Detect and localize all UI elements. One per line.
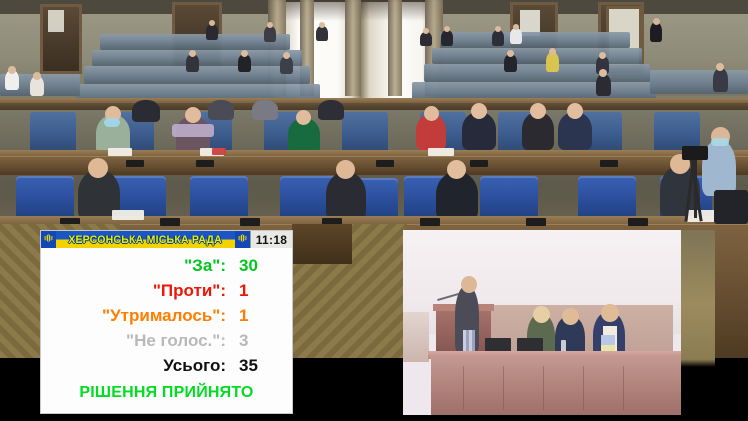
attendee-head bbox=[549, 48, 556, 55]
council-member-head bbox=[447, 160, 466, 179]
gallery-seat-row bbox=[650, 70, 748, 94]
attendee-head bbox=[319, 22, 325, 28]
attendee-head bbox=[8, 66, 16, 74]
vote-label-notvoted: "Не голос.": bbox=[41, 332, 226, 349]
attendee-head bbox=[599, 52, 606, 59]
presidium-desk-front bbox=[431, 356, 681, 415]
vote-count-for: 30 bbox=[226, 257, 307, 274]
attendee bbox=[420, 32, 432, 46]
microphone bbox=[600, 160, 618, 167]
attendee-head bbox=[444, 26, 450, 32]
gallery-seat-row bbox=[432, 48, 642, 64]
presidium-member-head bbox=[533, 306, 550, 323]
council-member-head bbox=[530, 103, 546, 119]
microphone bbox=[470, 160, 488, 167]
document-paper bbox=[428, 148, 454, 156]
vote-row-notvoted: "Не голос.": 3 bbox=[41, 332, 292, 349]
red-folder bbox=[212, 148, 226, 155]
attendee bbox=[650, 22, 662, 42]
attendee-head bbox=[423, 28, 429, 34]
vote-count-against: 1 bbox=[226, 282, 307, 299]
attendee-head bbox=[189, 50, 196, 57]
attendee bbox=[264, 26, 276, 42]
desk-panel-seam bbox=[463, 366, 464, 410]
vote-verdict: РІШЕННЯ ПРИЙНЯТО bbox=[41, 384, 292, 402]
scarf bbox=[172, 124, 214, 137]
attendee bbox=[316, 26, 328, 41]
inset-right-edge bbox=[681, 230, 715, 415]
face-mask bbox=[711, 138, 729, 146]
gallery-seat-row bbox=[440, 32, 630, 48]
desk-panel-seam bbox=[583, 366, 584, 410]
attendee-head bbox=[209, 20, 215, 26]
gallery-seat-row bbox=[100, 34, 290, 50]
ukraine-coat-of-arms-icon bbox=[41, 231, 56, 248]
vote-count-total: 35 bbox=[226, 357, 307, 374]
council-member-head bbox=[567, 103, 583, 119]
vote-count-notvoted: 3 bbox=[226, 332, 307, 349]
vote-results-panel: ХЕРСОНСЬКА МІСЬКА РАДА 11:18 "За": 30 "П… bbox=[40, 230, 293, 414]
tripod-leg bbox=[694, 160, 697, 218]
council-member bbox=[326, 172, 366, 220]
attendee-head bbox=[716, 63, 724, 71]
attendee-head bbox=[33, 72, 41, 80]
curtain bbox=[388, 0, 402, 96]
attendee-head bbox=[283, 52, 290, 59]
chamber-chair bbox=[342, 112, 388, 152]
vote-rows: "За": 30 "Проти": 1 "Утрималось": 1 "Не … bbox=[41, 248, 292, 402]
chamber-chair bbox=[480, 176, 538, 220]
presidium-side-column bbox=[403, 312, 429, 362]
inset-video-presidium bbox=[403, 230, 715, 415]
session-clock: 11:18 bbox=[250, 231, 292, 248]
microphone bbox=[160, 218, 180, 226]
council-member-head bbox=[424, 106, 439, 121]
microphone bbox=[420, 218, 440, 226]
desk-front bbox=[0, 156, 748, 175]
desk-panel-seam bbox=[543, 366, 544, 410]
attendee bbox=[492, 30, 504, 46]
face-mask bbox=[104, 118, 120, 127]
microphone bbox=[376, 160, 394, 167]
attendee-head bbox=[599, 69, 607, 77]
attendee-head bbox=[513, 24, 519, 30]
vote-row-total: Усього: 35 bbox=[41, 357, 292, 374]
council-member bbox=[208, 100, 234, 120]
council-member bbox=[132, 100, 160, 122]
council-member bbox=[318, 100, 344, 120]
vote-label-against: "Проти": bbox=[41, 282, 226, 299]
chamber-chair bbox=[578, 176, 636, 220]
vote-row-abstained: "Утрималось": 1 bbox=[41, 307, 292, 324]
broadcast-frame: ХЕРСОНСЬКА МІСЬКА РАДА 11:18 "За": 30 "П… bbox=[0, 0, 748, 421]
council-member-head bbox=[336, 160, 355, 179]
attendee bbox=[546, 52, 559, 72]
desk-edge bbox=[0, 98, 748, 103]
document-paper bbox=[108, 148, 132, 156]
door-window bbox=[48, 10, 64, 32]
ukraine-coat-of-arms-icon bbox=[235, 231, 250, 248]
vote-row-for: "За": 30 bbox=[41, 257, 292, 274]
curtain bbox=[345, 0, 361, 96]
attendee-head bbox=[507, 50, 514, 57]
presidium-member-head bbox=[601, 304, 619, 322]
council-member-head bbox=[185, 107, 201, 123]
letterbox-gap bbox=[293, 358, 403, 421]
video-camera bbox=[682, 146, 708, 160]
attendee bbox=[713, 68, 728, 92]
microphone bbox=[240, 218, 260, 226]
chamber-chair bbox=[16, 176, 74, 220]
attendee-head bbox=[267, 22, 273, 28]
council-name-banner: ХЕРСОНСЬКА МІСЬКА РАДА bbox=[56, 231, 235, 248]
council-member bbox=[436, 172, 478, 220]
presidium-member-head bbox=[562, 308, 579, 325]
microphone bbox=[526, 218, 546, 226]
speaker-head bbox=[461, 276, 477, 293]
council-member-head bbox=[471, 103, 487, 119]
attendee-head bbox=[241, 50, 248, 57]
council-member bbox=[252, 100, 278, 120]
desk-panel-seam bbox=[503, 366, 504, 410]
microphone bbox=[126, 160, 144, 167]
attendee bbox=[441, 30, 453, 46]
results-header: ХЕРСОНСЬКА МІСЬКА РАДА 11:18 bbox=[41, 231, 292, 248]
desk-panel-seam bbox=[623, 366, 624, 410]
document-paper bbox=[112, 210, 144, 220]
attendee bbox=[206, 24, 218, 40]
attendee bbox=[510, 28, 522, 44]
microphone bbox=[628, 218, 648, 226]
attendee bbox=[596, 74, 611, 96]
council-name-text: ХЕРСОНСЬКА МІСЬКА РАДА bbox=[69, 234, 223, 246]
chamber-chair bbox=[30, 112, 76, 152]
gallery-seat-row bbox=[424, 64, 650, 82]
chamber-chair bbox=[190, 176, 248, 220]
attendee-head bbox=[495, 26, 501, 32]
vote-row-against: "Проти": 1 bbox=[41, 282, 292, 299]
vote-count-abstained: 1 bbox=[226, 307, 307, 324]
vote-label-for: "За": bbox=[41, 257, 226, 274]
microphone bbox=[196, 160, 214, 167]
council-member-head bbox=[88, 158, 108, 178]
vote-label-total: Усього: bbox=[41, 357, 226, 374]
council-member-head bbox=[296, 110, 311, 125]
vote-label-abstained: "Утрималось": bbox=[41, 307, 226, 324]
chamber-chair bbox=[714, 190, 748, 224]
attendee-head bbox=[653, 18, 660, 25]
